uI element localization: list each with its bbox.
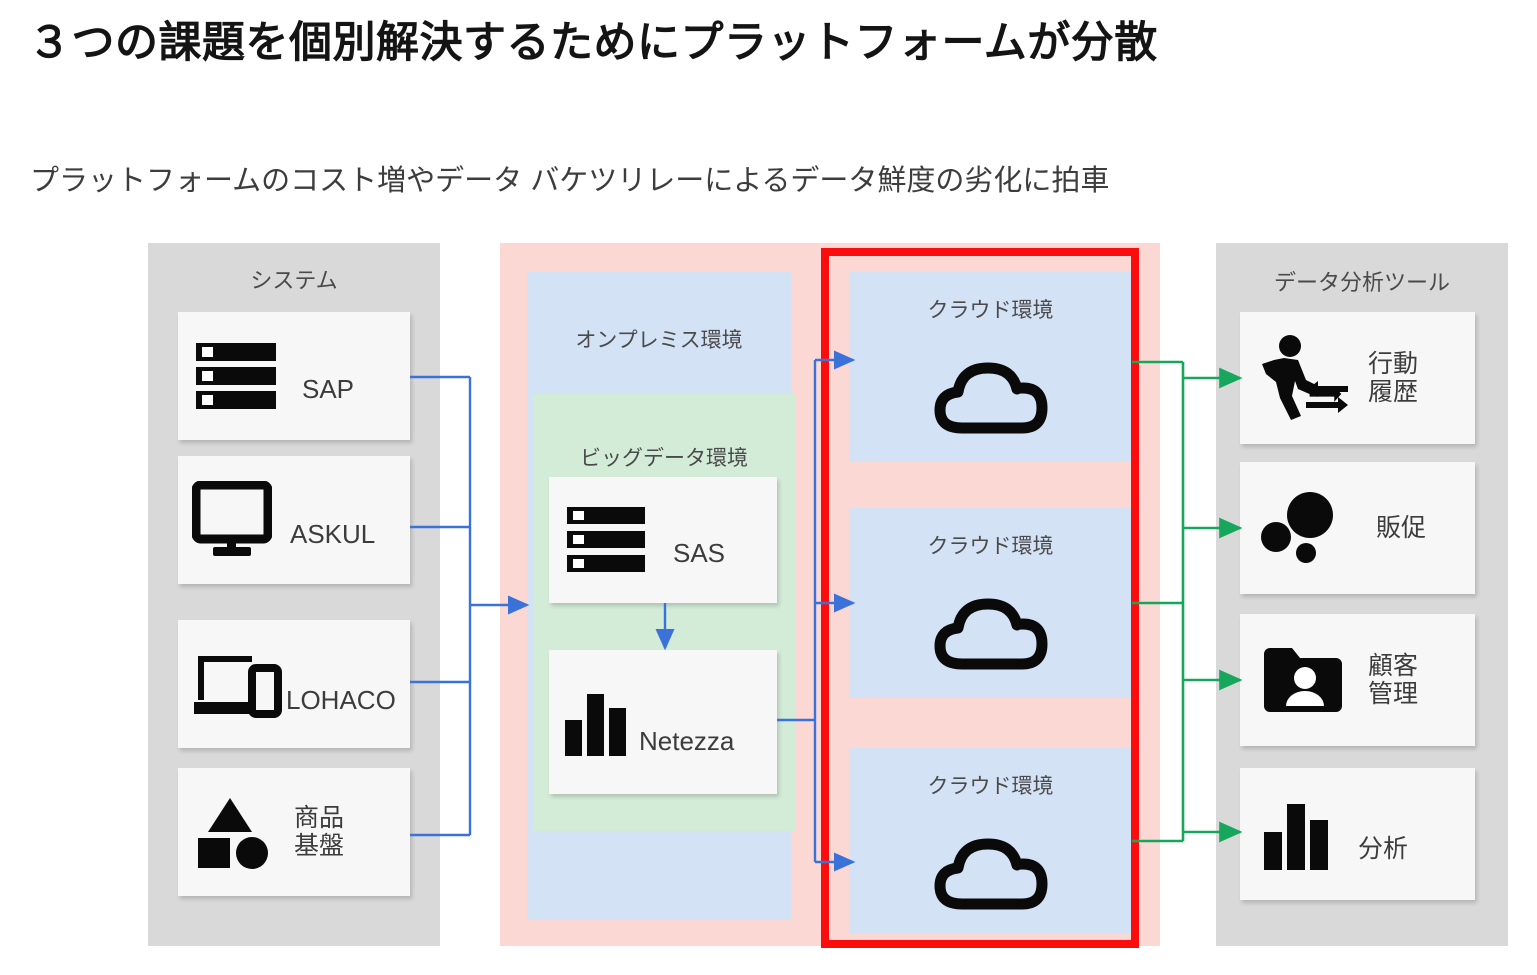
wire-netezza-to-clouds [777,360,853,862]
slide-canvas: ３つの課題を個別解決するためにプラットフォームが分散 プラットフォームのコスト増… [0,0,1537,975]
wire-clouds-to-analytics [1132,362,1240,841]
wire-systems-to-onpremise [410,377,527,835]
connector-wires [0,0,1537,975]
